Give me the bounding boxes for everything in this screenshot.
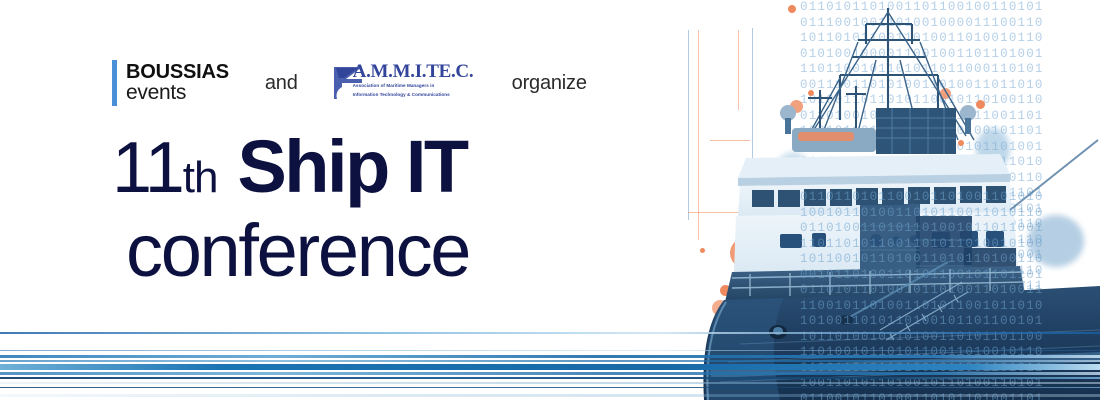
ship-anchor-detail	[773, 327, 783, 335]
ammitec-tagline-line1: Association of Maritime Managers in	[353, 83, 485, 90]
event-headline: 11 th Ship IT conference	[112, 130, 469, 288]
edition-ordinal-suffix: th	[183, 156, 218, 200]
ship-artwork: 0110101101001101100100110101 01110010011…	[680, 0, 1100, 400]
ship-it-conference-banner: BOUSSIAS events and A.M.M.I.TE.C. Associ…	[0, 0, 1100, 400]
binary-code-overlay: 0110110101100101101001101010 10010110100…	[800, 190, 1100, 400]
event-title-bold: Ship IT	[237, 130, 466, 204]
headline-line-1: 11 th Ship IT	[112, 130, 469, 204]
ship-radar-mast-left	[785, 118, 791, 134]
ammitec-logo[interactable]: A.M.M.I.TE.C. Association of Maritime Ma…	[332, 60, 484, 106]
connector-and: and	[265, 72, 298, 95]
ammitec-tagline-line2: Information Technology & Communications	[353, 92, 485, 99]
event-subtitle: conference	[126, 214, 469, 288]
boussias-events-logo[interactable]: BOUSSIAS events	[112, 60, 229, 106]
banner-left-content: BOUSSIAS events and A.M.M.I.TE.C. Associ…	[0, 0, 700, 400]
ship-bridge-roof	[738, 154, 1010, 178]
edition-number: 11	[112, 132, 183, 204]
boussias-logo-text: BOUSSIAS events	[126, 60, 229, 106]
ammitec-logo-text: A.M.M.I.TE.C. Association of Maritime Ma…	[353, 62, 485, 99]
organizers-row: BOUSSIAS events and A.M.M.I.TE.C. Associ…	[112, 58, 587, 108]
ammitec-name: A.M.M.I.TE.C.	[353, 62, 485, 81]
boussias-subtitle: events	[126, 82, 229, 104]
ship-lifeboat-stripe	[798, 132, 854, 141]
boussias-name: BOUSSIAS	[126, 62, 229, 83]
ship-radar-mast-right	[965, 118, 971, 134]
ship-bow-highlight	[705, 298, 784, 400]
boussias-accent-bar	[112, 60, 117, 106]
connector-organize: organize	[512, 72, 587, 95]
